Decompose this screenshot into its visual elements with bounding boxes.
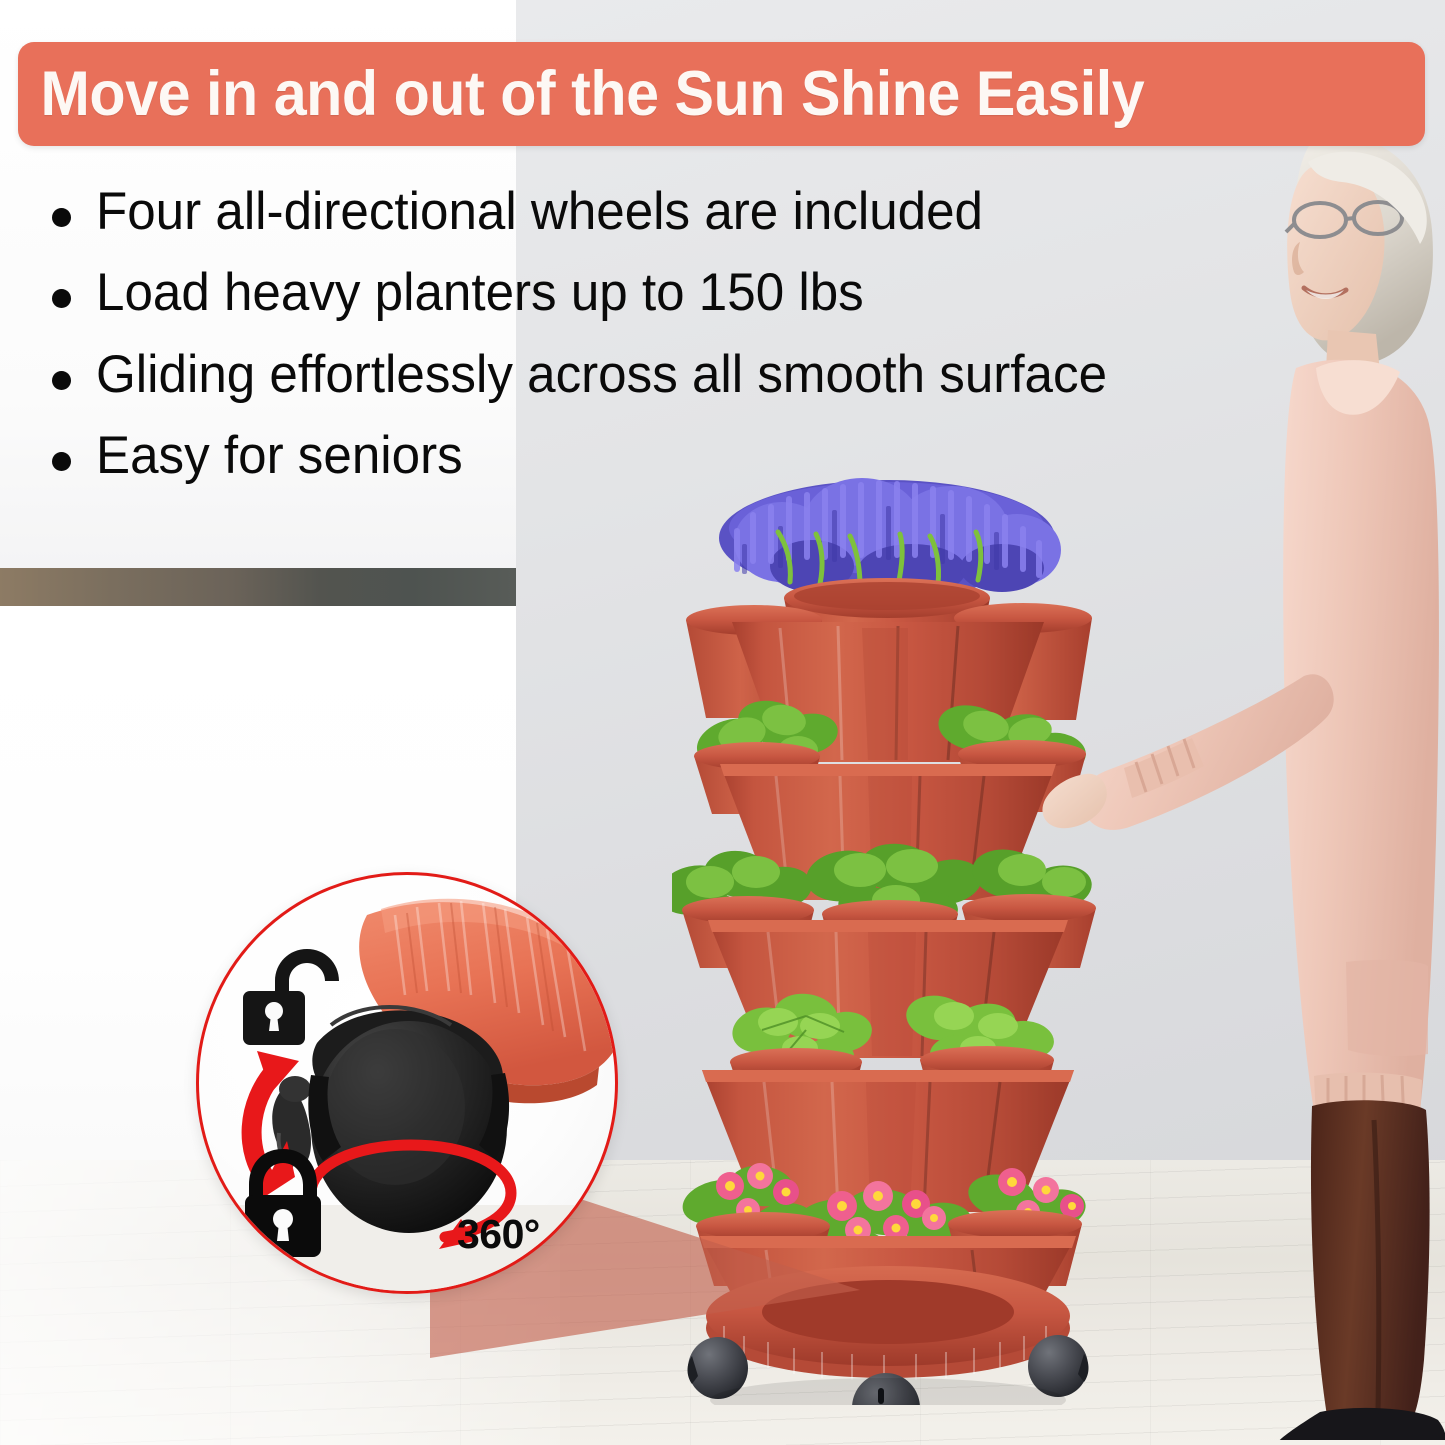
callout-disc: 360°: [196, 872, 618, 1294]
caster-detail-callout: 360°: [196, 872, 618, 1294]
tier2-lip: [720, 764, 1056, 776]
bullet-dot-icon: [52, 452, 71, 471]
shoe: [1274, 1408, 1445, 1440]
list-item: Gliding effortlessly across all smooth s…: [52, 345, 1432, 404]
bullet-text: Easy for seniors: [96, 426, 463, 485]
callout-contents: [199, 875, 618, 1294]
banner-title-text: Move in and out of the Sun Shine Easily: [18, 58, 1144, 130]
base-floor-shadow: [710, 1378, 1066, 1405]
feature-bullet-list: Four all-directional wheels are included…: [52, 182, 1432, 507]
list-item: Four all-directional wheels are included: [52, 182, 1432, 241]
product-feature-image: 360° Move in and out of the Sun Shine Ea…: [0, 0, 1445, 1445]
list-item: Load heavy planters up to 150 lbs: [52, 263, 1432, 322]
pants: [1311, 1100, 1430, 1426]
cardigan-pocket: [1346, 960, 1428, 1056]
counter-edge-band: [0, 568, 516, 606]
bullet-text: Four all-directional wheels are included: [96, 182, 983, 241]
tier1-center-groove: [862, 628, 908, 760]
bullet-text: Gliding effortlessly across all smooth s…: [96, 345, 1107, 404]
bullet-dot-icon: [52, 371, 71, 390]
tier3-cup-rim-left: [682, 896, 814, 924]
tier4-lip: [702, 1070, 1074, 1082]
bullet-text: Load heavy planters up to 150 lbs: [96, 263, 864, 322]
degree-label: 360°: [457, 1211, 540, 1258]
pot-opening-back: [794, 582, 980, 610]
unlock-icon: [243, 949, 339, 1045]
bullet-dot-icon: [52, 289, 71, 308]
tier3-lip: [708, 920, 1068, 932]
bullet-dot-icon: [52, 208, 71, 227]
tier3-center-groove: [868, 932, 916, 1056]
list-item: Easy for seniors: [52, 426, 1432, 485]
title-banner: Move in and out of the Sun Shine Easily: [18, 42, 1425, 146]
